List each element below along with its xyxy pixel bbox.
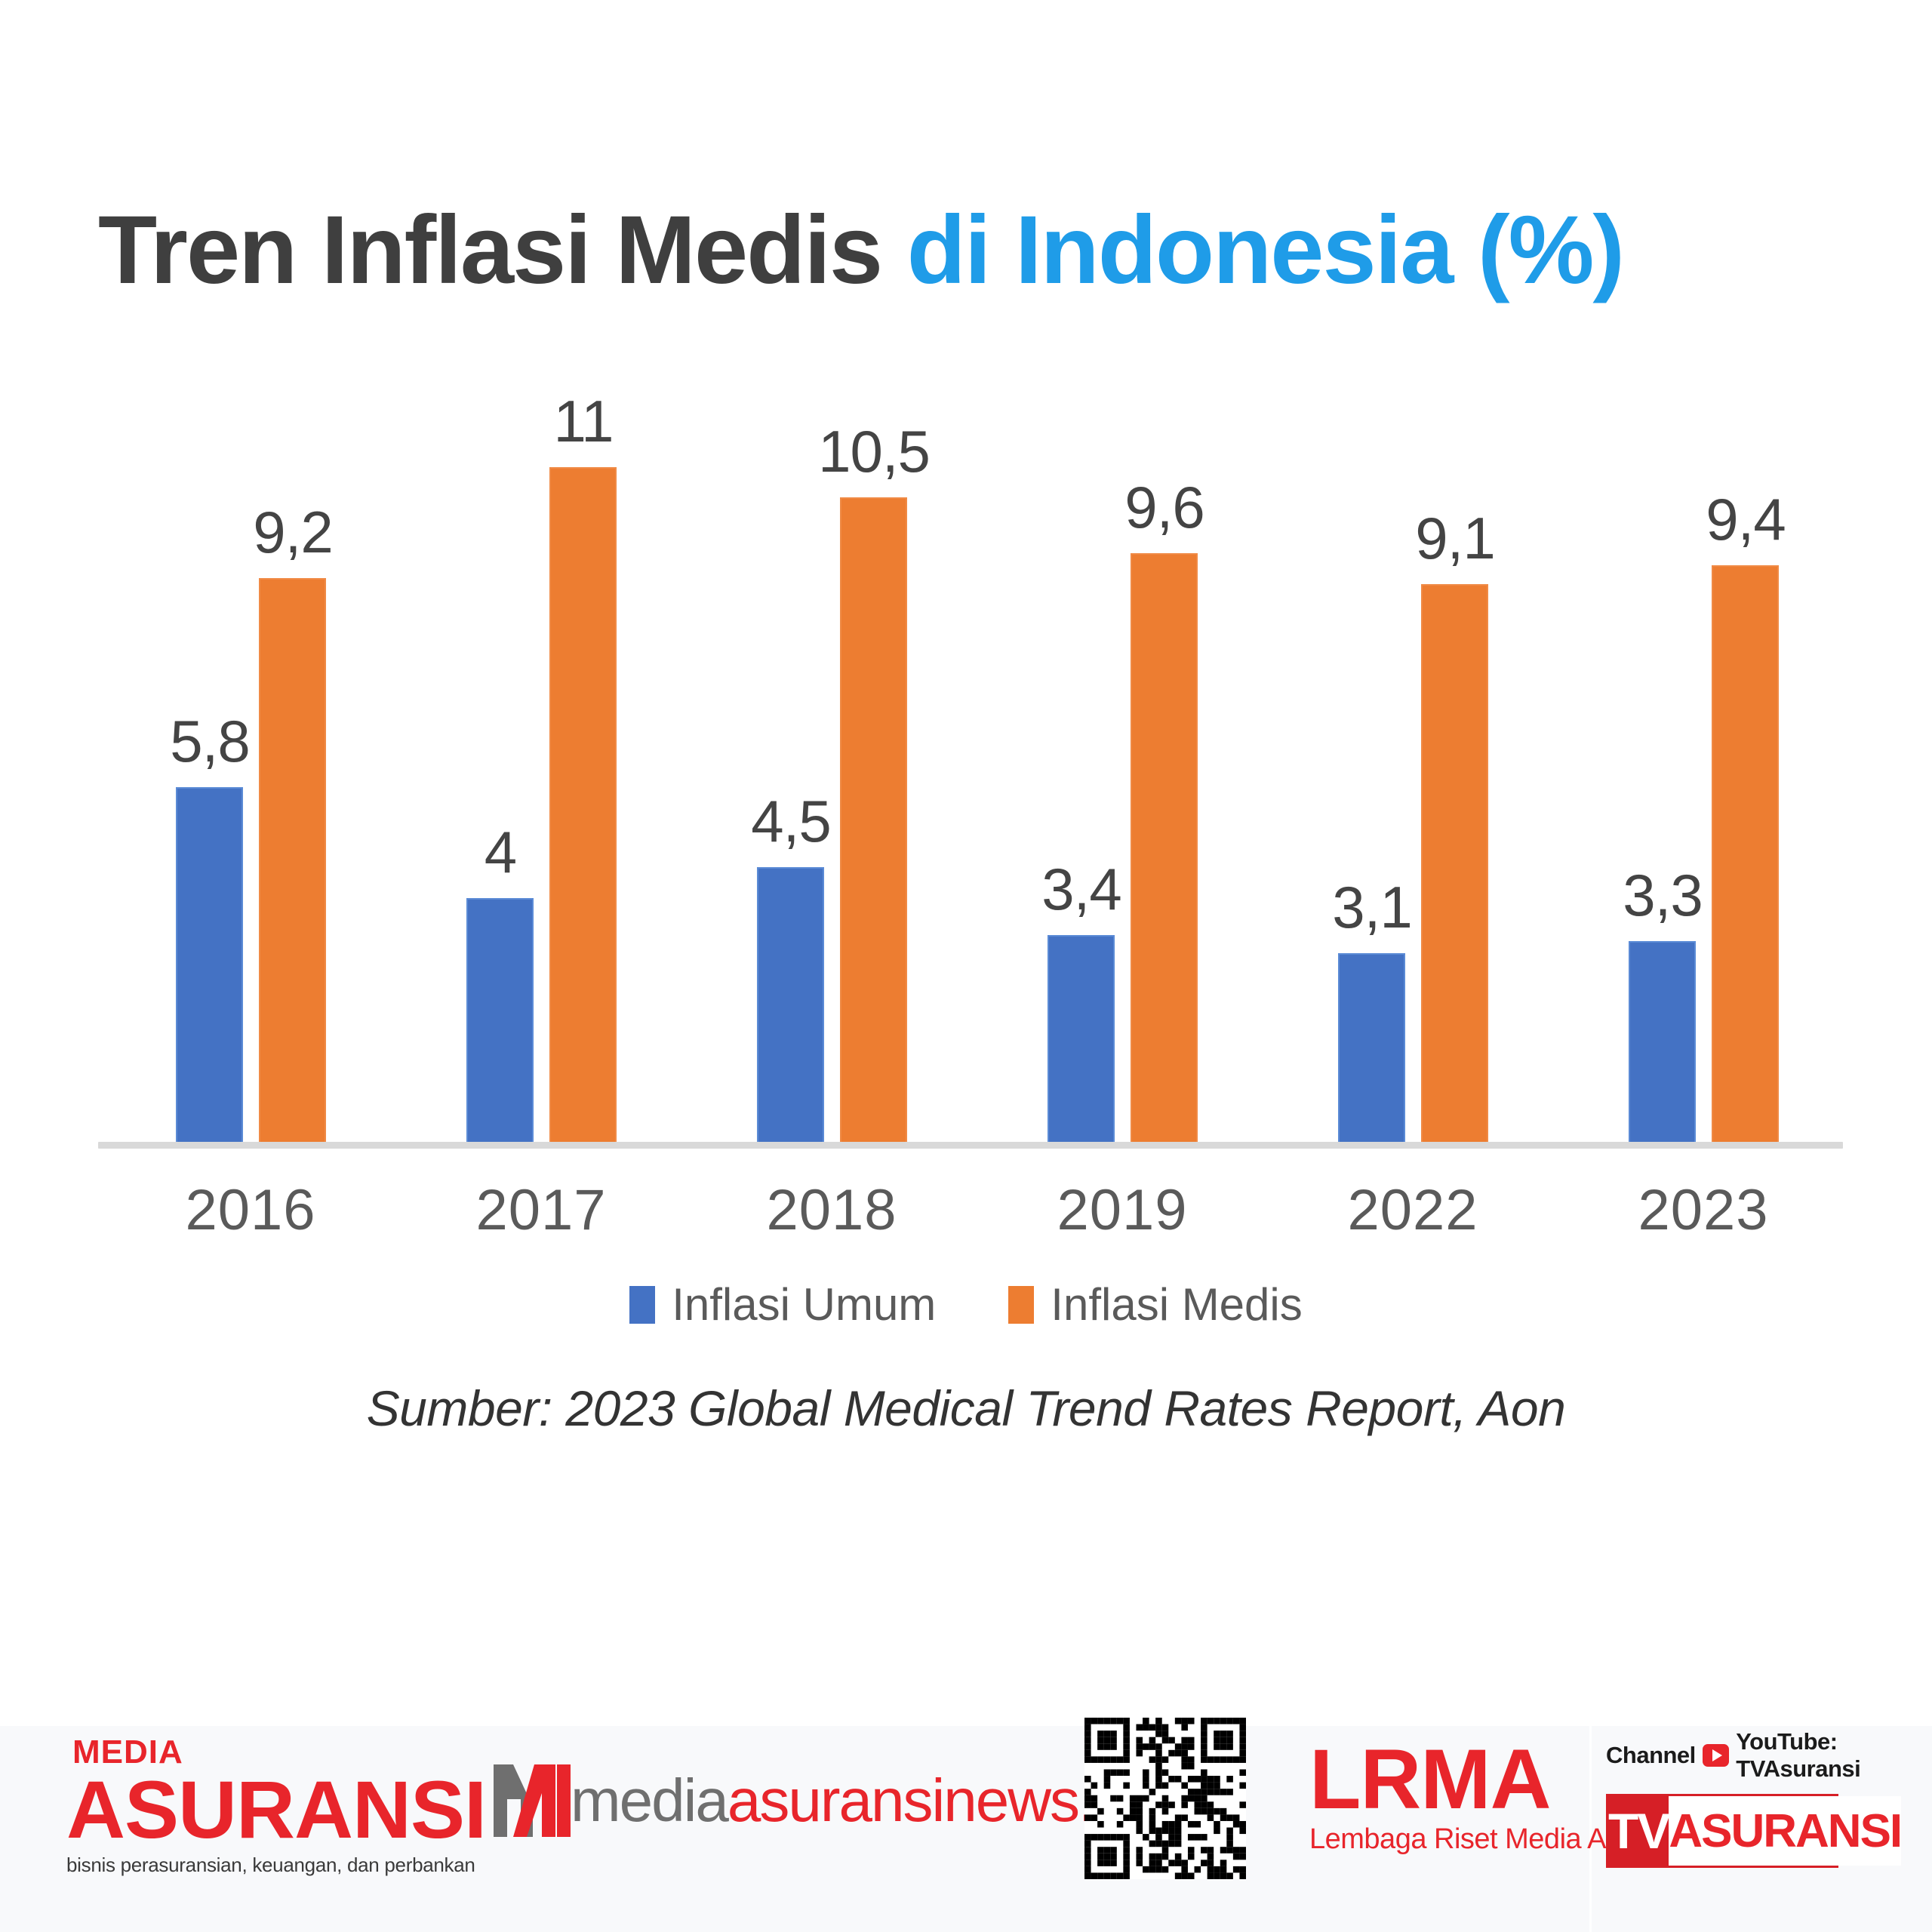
x-axis-label-2018: 2018 (707, 1177, 956, 1243)
plot-area: 5,89,24114,510,53,49,63,19,13,39,4 (98, 362, 1841, 1144)
bar-group: 3,19,1 (1338, 362, 1488, 1144)
value-label-inflasi-medis-2019: 9,6 (1078, 478, 1251, 537)
channel-prefix-label: Channel (1606, 1742, 1696, 1769)
youtube-channel-line: Channel YouTube: TVAsuransi (1606, 1728, 1932, 1783)
legend-item-inflasi-medis: Inflasi Medis (1008, 1278, 1302, 1331)
tv-asuransi-logo[interactable]: Channel YouTube: TVAsuransi TV ASURANSI (1606, 1728, 1932, 1868)
bar-inflasi-medis-2017 (549, 467, 617, 1144)
bar-group: 411 (466, 362, 617, 1144)
bar-inflasi-medis-2022 (1421, 584, 1488, 1144)
legend-swatch-icon-orange (1008, 1286, 1034, 1324)
source-note: Sumber: 2023 Global Medical Trend Rates … (0, 1380, 1932, 1437)
x-axis-label-2023: 2023 (1579, 1177, 1828, 1243)
bar-inflasi-umum-2017 (466, 898, 534, 1144)
x-axis-label-2022: 2022 (1288, 1177, 1537, 1243)
bar-inflasi-medis-2019 (1131, 553, 1198, 1144)
bar-inflasi-umum-2018 (757, 867, 824, 1144)
value-label-inflasi-medis-2016: 9,2 (206, 503, 380, 561)
qr-code-icon[interactable] (1084, 1718, 1246, 1879)
chart-legend: Inflasi Umum Inflasi Medis (0, 1278, 1932, 1331)
bar-group: 3,39,4 (1629, 362, 1779, 1144)
x-axis-line (98, 1142, 1843, 1149)
bar-inflasi-medis-2018 (840, 497, 907, 1144)
tv-box-tv-text: TV (1608, 1796, 1669, 1866)
legend-label-inflasi-umum: Inflasi Umum (672, 1278, 936, 1331)
youtube-icon (1703, 1744, 1729, 1767)
bar-inflasi-medis-2023 (1712, 565, 1779, 1144)
bar-inflasi-medis-2016 (259, 578, 326, 1144)
bar-group: 4,510,5 (757, 362, 907, 1144)
legend-item-inflasi-umum: Inflasi Umum (629, 1278, 936, 1331)
bar-inflasi-umum-2016 (176, 787, 243, 1144)
ma-monogram-icon (491, 1760, 574, 1841)
bar-group: 5,89,2 (176, 362, 326, 1144)
value-label-inflasi-medis-2017: 11 (497, 392, 670, 451)
bar-chart: 5,89,24114,510,53,49,63,19,13,39,4 20162… (0, 0, 1932, 1728)
bar-inflasi-umum-2022 (1338, 953, 1405, 1144)
value-label-inflasi-medis-2018: 10,5 (787, 422, 961, 481)
media-asuransi-logo: MEDIA ASURANSI bisnis perasuransian, keu… (66, 1736, 486, 1877)
bar-group: 3,49,6 (1048, 362, 1198, 1144)
website-wordmark-gray: media (571, 1767, 728, 1834)
value-label-inflasi-medis-2022: 9,1 (1368, 509, 1542, 568)
bar-inflasi-umum-2019 (1048, 935, 1115, 1144)
x-axis-label-2017: 2017 (417, 1177, 666, 1243)
tv-asuransi-box: TV ASURANSI (1606, 1794, 1838, 1868)
legend-swatch-icon-blue (629, 1286, 655, 1324)
value-label-inflasi-medis-2023: 9,4 (1659, 490, 1832, 549)
tv-box-asuransi-text: ASURANSI (1669, 1796, 1901, 1866)
legend-label-inflasi-medis: Inflasi Medis (1051, 1278, 1302, 1331)
x-axis-label-2016: 2016 (126, 1177, 375, 1243)
media-asuransi-asuransi-text: ASURANSI (66, 1770, 486, 1849)
media-asuransi-tagline: bisnis perasuransian, keuangan, dan perb… (66, 1854, 486, 1877)
bar-inflasi-umum-2023 (1629, 941, 1696, 1144)
channel-suffix-label: YouTube: TVAsuransi (1736, 1728, 1932, 1783)
x-axis-label-2019: 2019 (998, 1177, 1247, 1243)
